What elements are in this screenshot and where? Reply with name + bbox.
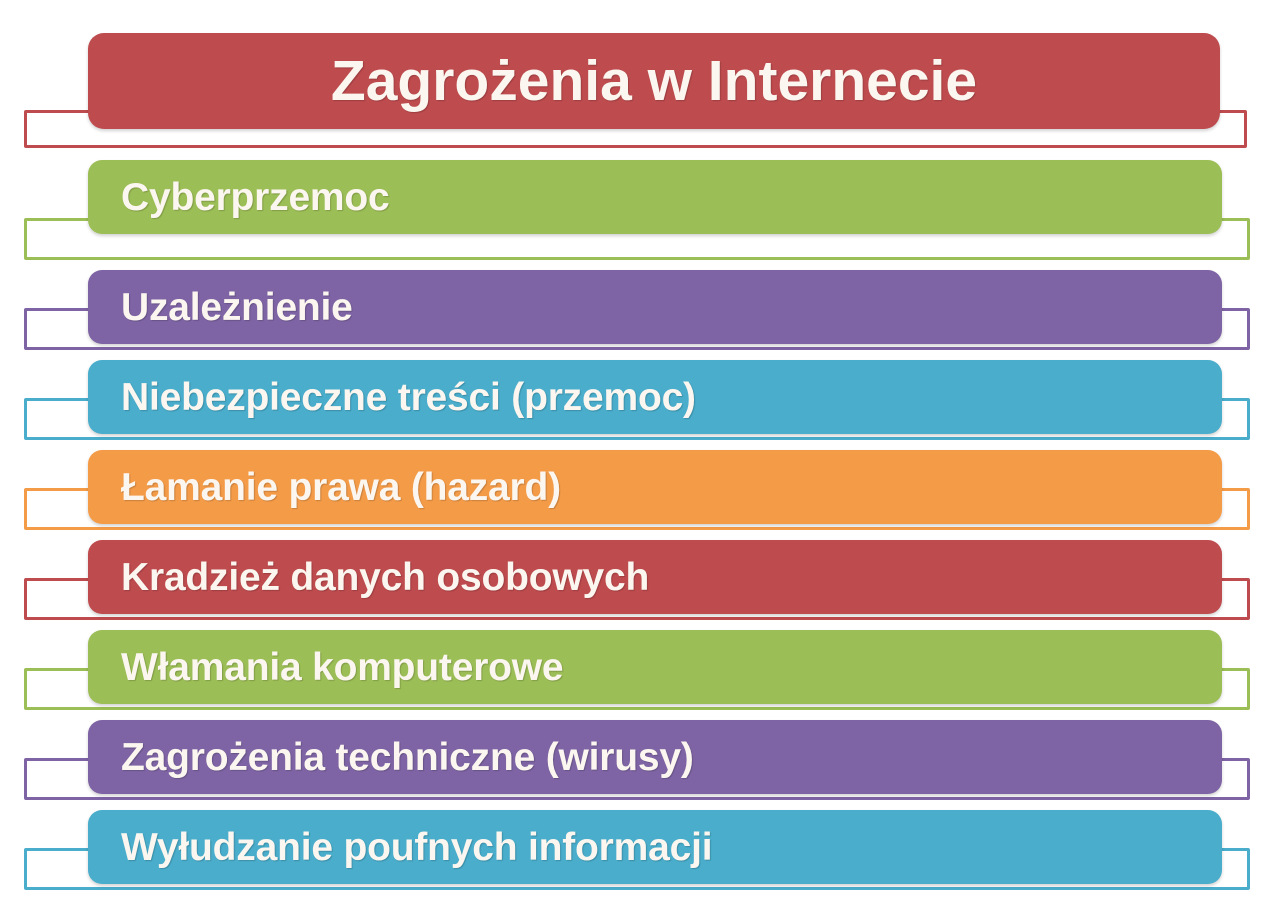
threat-bar-7[interactable]: Zagrożenia techniczne (wirusy) [88, 720, 1222, 794]
threat-bar-8[interactable]: Wyłudzanie poufnych informacji [88, 810, 1222, 884]
title-bar[interactable]: Zagrożenia w Internecie [88, 33, 1220, 129]
threat-bar-1[interactable]: Cyberprzemoc [88, 160, 1222, 234]
threat-label-4: Łamanie prawa (hazard) [121, 468, 561, 507]
threat-label-3: Niebezpieczne treści (przemoc) [121, 378, 696, 417]
threat-bar-6[interactable]: Włamania komputerowe [88, 630, 1222, 704]
threat-label-7: Zagrożenia techniczne (wirusy) [121, 738, 694, 777]
threat-bar-5[interactable]: Kradzież danych osobowych [88, 540, 1222, 614]
threat-label-2: Uzależnienie [121, 288, 353, 327]
threat-label-1: Cyberprzemoc [121, 178, 390, 217]
threat-bar-4[interactable]: Łamanie prawa (hazard) [88, 450, 1222, 524]
threat-bar-2[interactable]: Uzależnienie [88, 270, 1222, 344]
threat-label-5: Kradzież danych osobowych [121, 558, 649, 597]
threat-label-8: Wyłudzanie poufnych informacji [121, 828, 712, 867]
page-title: Zagrożenia w Internecie [331, 53, 977, 110]
infographic-root: Zagrożenia w Internecie Cyberprzemoc Uza… [0, 0, 1280, 916]
threat-bar-3[interactable]: Niebezpieczne treści (przemoc) [88, 360, 1222, 434]
threat-label-6: Włamania komputerowe [121, 648, 563, 687]
